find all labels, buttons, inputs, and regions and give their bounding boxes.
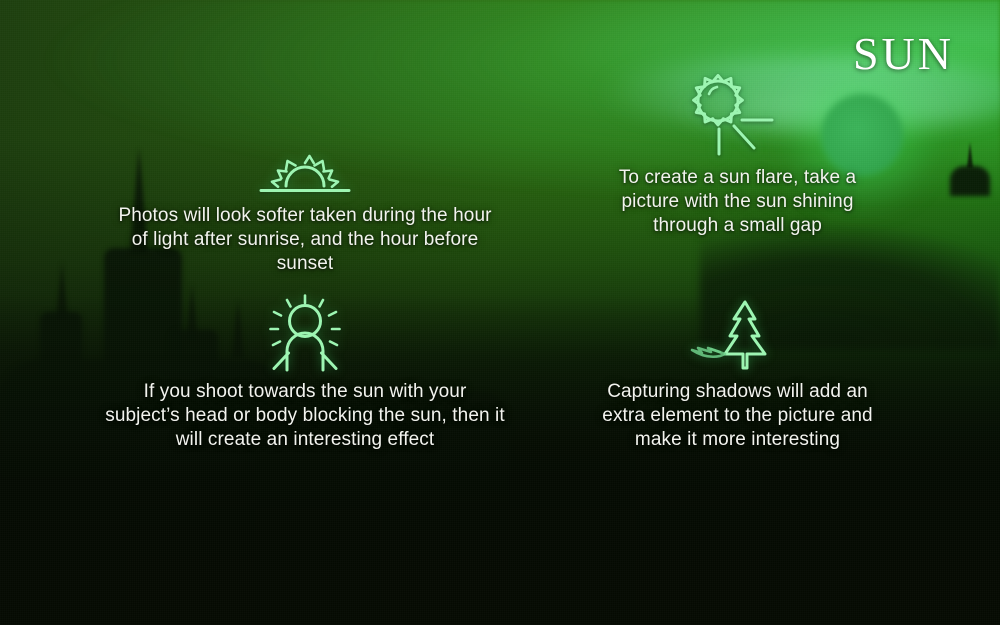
tip-card-shadows: Capturing shadows will add an extra elem… — [600, 288, 875, 452]
slide-canvas: SUN Photos will look softer taken during… — [0, 0, 1000, 625]
person-backlit-icon — [105, 288, 505, 372]
sunrise-icon — [115, 112, 495, 196]
tip-caption: If you shoot towards the sun with your s… — [105, 380, 505, 452]
tree-shadow-icon — [600, 288, 875, 372]
tip-caption: Photos will look softer taken during the… — [115, 204, 495, 276]
tip-caption: Capturing shadows will add an extra elem… — [600, 380, 875, 452]
tip-caption: To create a sun flare, take a picture wi… — [600, 166, 875, 238]
tip-card-sun-flare: To create a sun flare, take a picture wi… — [600, 74, 875, 238]
tip-card-golden-hour: Photos will look softer taken during the… — [115, 112, 495, 276]
tip-card-silhouette: If you shoot towards the sun with your s… — [105, 288, 505, 452]
page-title: SUN — [853, 28, 954, 80]
sun-flare-icon — [600, 74, 875, 158]
